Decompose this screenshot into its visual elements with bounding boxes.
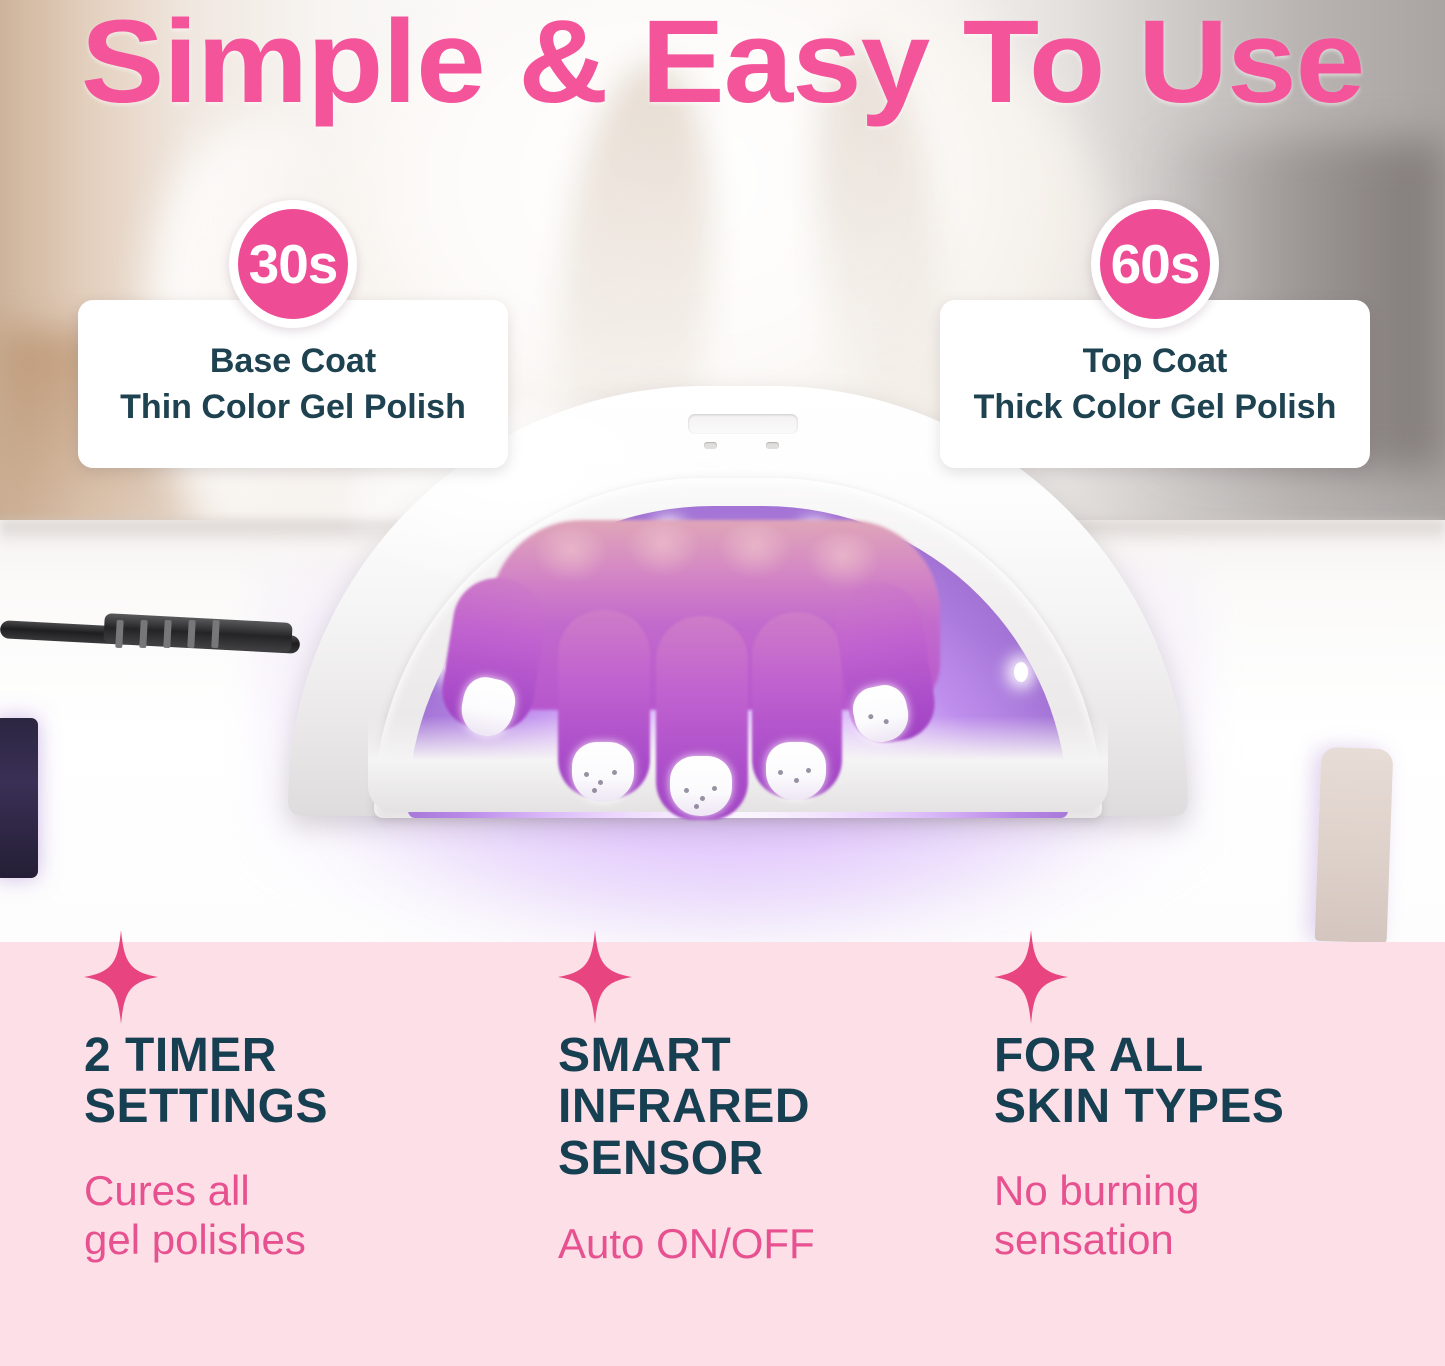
callout-line-1: Top Coat [1083,344,1228,378]
timer-badge-30s: 30s [229,200,357,328]
fingernail [670,756,732,816]
fingernail [572,742,634,802]
plug-ring [211,620,219,648]
fingernail [766,742,826,800]
plug-ring [139,620,147,648]
nail-polish-bottle [0,718,38,878]
hand-under-lamp [430,520,990,820]
page-title: Simple & Easy To Use [0,0,1445,130]
plug-ring [115,620,123,648]
plug-ring [187,620,195,648]
feature-title: SMART INFRARED SENSOR [558,1030,958,1184]
led-light [1014,662,1028,682]
knuckle [806,534,880,588]
product-infographic: Simple & Easy To Use 30s Base Coat Thin … [0,0,1445,1366]
feature-subtitle: No burning sensation [994,1167,1414,1264]
callout-line-2: Thin Color Gel Polish [120,390,466,424]
knuckle [534,528,608,582]
sparkle-icon [84,930,158,1024]
nail-file [1315,747,1394,942]
lamp-button [766,442,779,449]
feature-subtitle: Cures all gel polishes [84,1167,504,1264]
feature-subtitle: Auto ON/OFF [558,1220,958,1269]
knuckle [626,522,700,576]
sparkle-icon [994,930,1068,1024]
product-photo [0,0,1445,942]
feature-title: 2 TIMER SETTINGS [84,1030,504,1133]
callout-line-2: Thick Color Gel Polish [974,390,1337,424]
callout-line-1: Base Coat [210,344,376,378]
timer-badge-60s: 60s [1091,200,1219,328]
lamp-button-panel [688,414,798,434]
knuckle [718,524,792,578]
feature-title: FOR ALL SKIN TYPES [994,1030,1414,1133]
lamp-button [704,442,717,449]
plug-ring [163,620,171,648]
sparkle-icon [558,930,632,1024]
feature-strip: 2 TIMER SETTINGS Cures all gel polishes … [0,942,1445,1366]
